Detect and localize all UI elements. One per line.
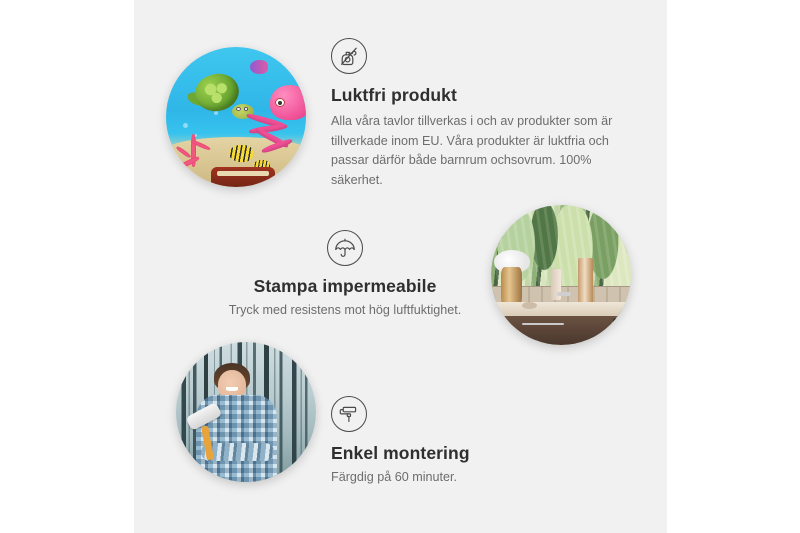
woman-painter-forest-photo	[176, 342, 316, 482]
umbrella-icon	[327, 230, 363, 266]
product-feature-infographic: Luktfri produkt Alla våra tavlor tillver…	[0, 0, 800, 533]
feature-title: Enkel montering	[331, 443, 591, 464]
feature-block-waterproof: Stampa impermeabile Tryck med resistens …	[215, 230, 475, 321]
paint-roller-icon	[331, 396, 367, 432]
feature-description: Färgdig på 60 minuter.	[331, 468, 591, 488]
amber-bottle	[578, 258, 593, 306]
wood-vanity-cabinet	[499, 316, 631, 345]
coral-branch	[176, 145, 192, 158]
feature-block-easy-mounting: Enkel montering Färgdig på 60 minuter.	[331, 396, 591, 488]
soap-dish	[522, 302, 537, 309]
coral-illustration	[174, 120, 216, 168]
octopus-illustration	[250, 85, 306, 152]
sunken-chest	[211, 167, 275, 187]
turtle-illustration	[190, 71, 254, 121]
bathroom-tropical-wallpaper-photo	[491, 205, 631, 345]
octopus-head	[270, 85, 306, 120]
person-smile	[226, 387, 237, 391]
feature-title: Luktfri produkt	[331, 85, 631, 106]
feature-description: Alla våra tavlor tillverkas i och av pro…	[331, 112, 619, 190]
feature-block-odourless: Luktfri produkt Alla våra tavlor tillver…	[331, 38, 631, 190]
feature-description: Tryck med resistens mot hög luftfuktighe…	[215, 301, 475, 321]
faucet	[557, 292, 571, 296]
feature-title: Stampa impermeabile	[215, 276, 475, 297]
octopus-eye	[275, 98, 285, 107]
underwater-scene-photo	[166, 47, 306, 187]
no-fragrance-icon	[331, 38, 367, 74]
purple-fish	[250, 60, 268, 74]
yellow-fish	[229, 145, 253, 162]
